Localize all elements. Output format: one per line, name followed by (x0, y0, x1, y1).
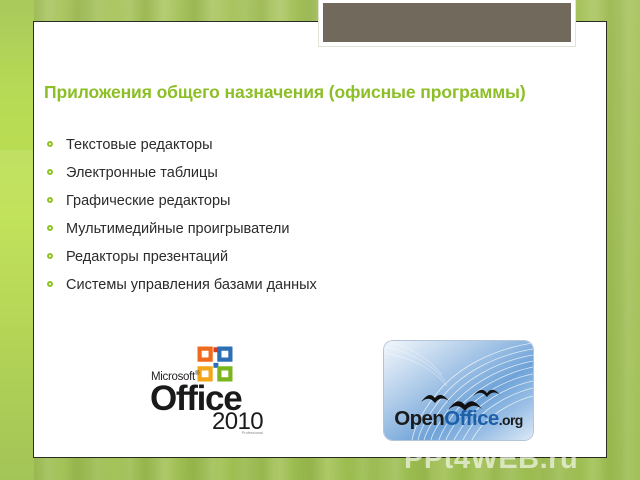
bullet-circle-icon (47, 169, 53, 175)
bullet-circle-icon (47, 253, 53, 259)
left-band-sheen (0, 150, 34, 350)
list-item: Текстовые редакторы (44, 131, 544, 159)
bullet-circle-icon (47, 281, 53, 287)
list-item-label: Системы управления базами данных (66, 277, 317, 293)
list-item: Графические редакторы (44, 187, 544, 215)
office-pinwheel-icon (196, 345, 234, 383)
bullet-circle-icon (47, 197, 53, 203)
picture-placeholder[interactable] (318, 0, 576, 47)
bullet-circle-icon (47, 225, 53, 231)
microsoft-office-logo: Microsoft® Office 2010 Professional (150, 345, 295, 440)
list-item: Редакторы презентаций (44, 243, 544, 271)
slide-title: Приложения общего назначения (офисные пр… (44, 82, 544, 103)
slide-canvas: Приложения общего назначения (офисные пр… (0, 0, 640, 480)
list-item-label: Текстовые редакторы (66, 137, 213, 153)
bullet-list: Текстовые редакторы Электронные таблицы … (44, 131, 544, 299)
openoffice-org-label: .org (499, 412, 523, 428)
list-item-label: Мультимедийные проигрыватели (66, 221, 289, 237)
list-item-label: Графические редакторы (66, 193, 230, 209)
site-watermark: PPt4WEB.ru (404, 443, 578, 475)
trademark-symbol: ® (195, 371, 199, 377)
list-item: Мультимедийные проигрыватели (44, 215, 544, 243)
openoffice-open-label: Open (394, 407, 444, 430)
left-accent-band (0, 0, 34, 480)
list-item-label: Редакторы презентаций (66, 249, 228, 265)
list-item: Системы управления базами данных (44, 271, 544, 299)
openoffice-logo: OpenOffice.org (384, 341, 533, 440)
bullet-circle-icon (47, 141, 53, 147)
openoffice-wordmark: OpenOffice.org (384, 408, 533, 431)
openoffice-office-label: Office (444, 407, 499, 430)
list-item: Электронные таблицы (44, 159, 544, 187)
office-fineprint: Professional (242, 431, 263, 435)
list-item-label: Электронные таблицы (66, 165, 218, 181)
picture-placeholder-fill (323, 3, 571, 42)
